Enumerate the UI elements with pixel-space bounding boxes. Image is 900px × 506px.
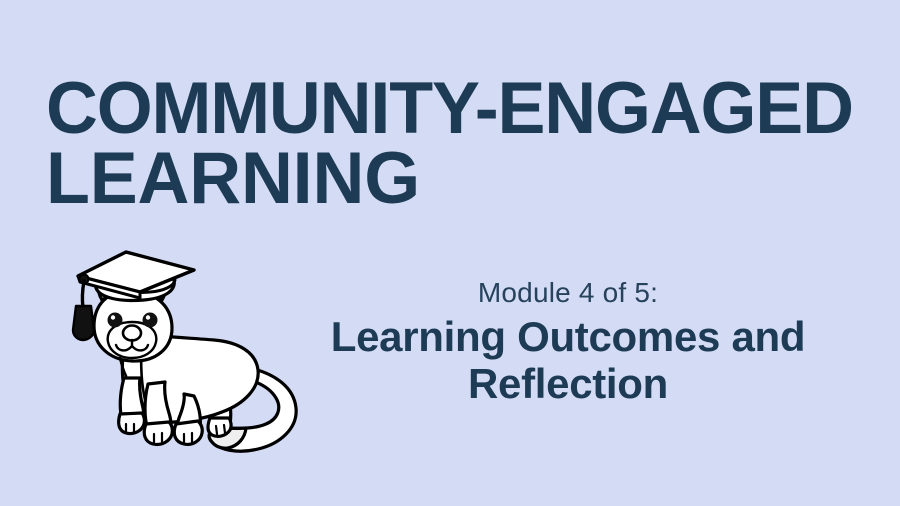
ferret-graduation-cap-illustration (62, 248, 328, 470)
subtitle-block: Module 4 of 5: Learning Outcomes and Ref… (290, 276, 846, 407)
subtitle-line-1: Learning Outcomes and (290, 313, 846, 360)
title-line-1: COMMUNITY-ENGAGED (46, 74, 864, 144)
subtitle-heading: Learning Outcomes and Reflection (290, 313, 846, 407)
title-line-2: LEARNING (46, 144, 864, 214)
page-title: COMMUNITY-ENGAGED LEARNING (46, 74, 876, 214)
subtitle-line-2: Reflection (290, 360, 846, 407)
module-label: Module 4 of 5: (290, 276, 846, 310)
ferret-icon (62, 248, 328, 470)
slide-canvas: COMMUNITY-ENGAGED LEARNING Module 4 of 5… (0, 0, 900, 506)
